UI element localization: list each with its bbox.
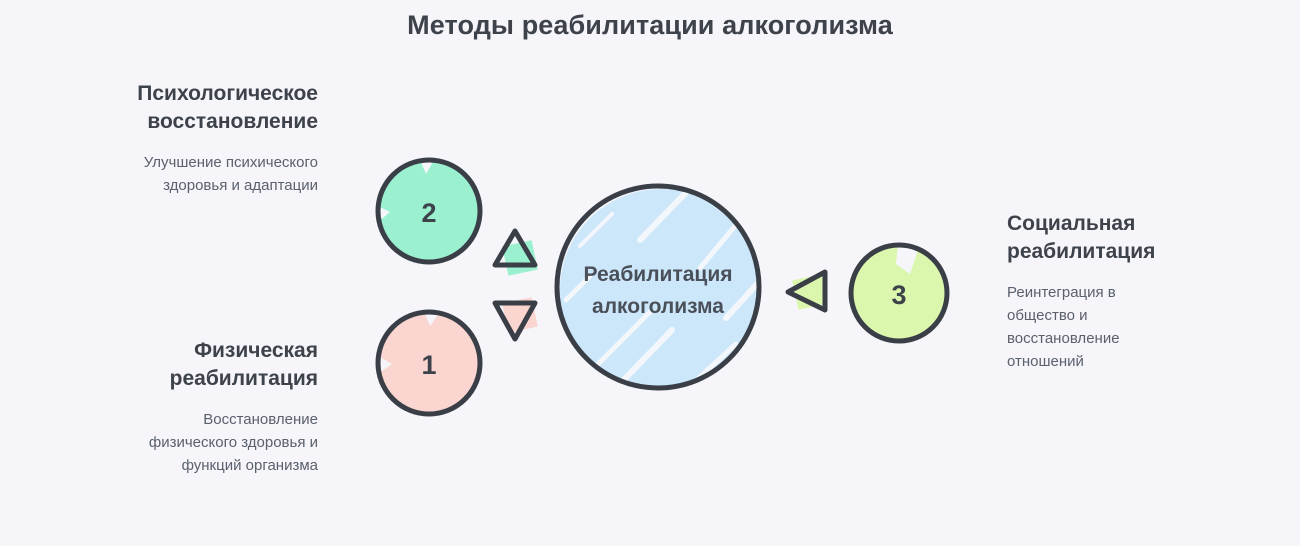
heading-line-2: восстановление xyxy=(18,108,318,136)
center-label-line2: алкоголизма xyxy=(592,295,724,318)
block-physical-heading: Физическая реабилитация xyxy=(18,337,318,393)
block-psychological-body: Улучшение психического здоровья и адапта… xyxy=(18,152,318,198)
heading-line-1: Психологическое xyxy=(18,80,318,108)
heading-line-1: Социальная xyxy=(1007,210,1272,238)
heading-line-2: реабилитация xyxy=(18,365,318,393)
node-3-number: 3 xyxy=(891,280,906,310)
block-physical: Физическая реабилитация Восстановление ф… xyxy=(18,337,318,478)
center-node[interactable]: Реабилитация алкоголизма xyxy=(557,164,768,392)
arrow-up-icon xyxy=(495,231,538,276)
block-social: Социальная реабилитация Реинтеграция в о… xyxy=(1007,210,1272,374)
block-psychological-heading: Психологическое восстановление xyxy=(18,80,318,136)
center-label-line1: Реабилитация xyxy=(583,263,732,286)
heading-line-2: реабилитация xyxy=(1007,238,1272,266)
heading-line-1: Физическая xyxy=(18,337,318,365)
block-social-body: Реинтеграция в общество и восстановление… xyxy=(1007,282,1272,374)
node-3[interactable]: 3 xyxy=(850,244,948,342)
node-1[interactable]: 1 xyxy=(378,312,482,416)
node-2-number: 2 xyxy=(421,198,436,228)
node-2[interactable]: 2 xyxy=(378,160,482,264)
block-psychological: Психологическое восстановление Улучшение… xyxy=(18,80,318,198)
block-physical-body: Восстановление физического здоровья и фу… xyxy=(18,409,318,478)
node-1-number: 1 xyxy=(421,350,436,380)
diagram-canvas: Методы реабилитации алкоголизма xyxy=(0,0,1300,546)
arrow-left-icon xyxy=(788,272,828,310)
arrow-down-icon xyxy=(495,297,538,339)
block-social-heading: Социальная реабилитация xyxy=(1007,210,1272,266)
